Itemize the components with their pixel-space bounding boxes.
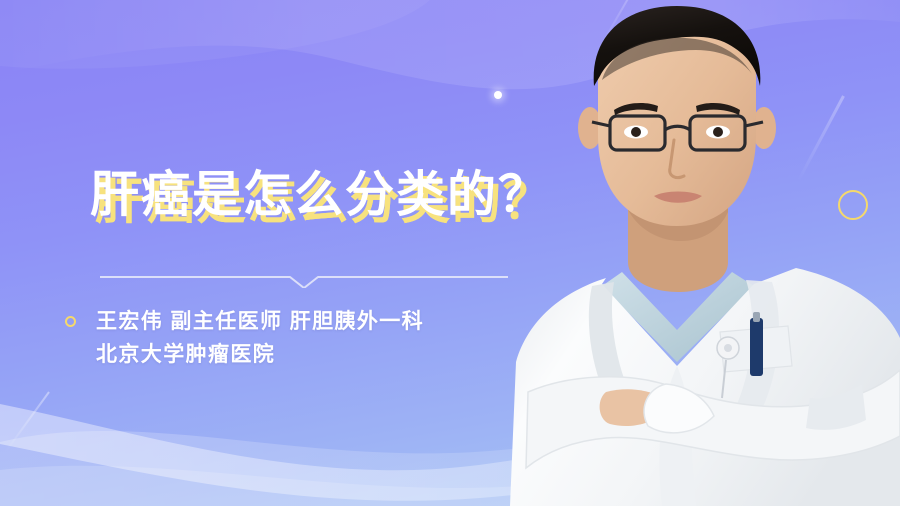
byline: 王宏伟 副主任医师 肝胆胰外一科 北京大学肿瘤医院 [96,305,556,371]
badge-reel-center [724,344,732,352]
bullet-ring-icon [65,316,76,327]
divider [100,268,508,288]
divider-notch-icon [100,268,508,288]
pupil-right [713,127,723,137]
video-cover-slide: 肝癌是怎么分类的？ 王宏伟 副主任医师 肝胆胰外一科 北京大学肿瘤医院 [0,0,900,506]
text-content: 肝癌是怎么分类的？ 王宏伟 副主任医师 肝胆胰外一科 北京大学肿瘤医院 [0,0,560,506]
page-title: 肝癌是怎么分类的？ [90,171,549,220]
byline-line-1: 王宏伟 副主任医师 肝胆胰外一科 [96,305,556,338]
byline-line-2: 北京大学肿瘤医院 [96,338,556,371]
pen-clip [753,312,760,322]
doctor-portrait-svg [510,0,900,506]
doctor-portrait [510,0,900,506]
pen-icon [750,318,763,376]
pupil-left [631,127,641,137]
